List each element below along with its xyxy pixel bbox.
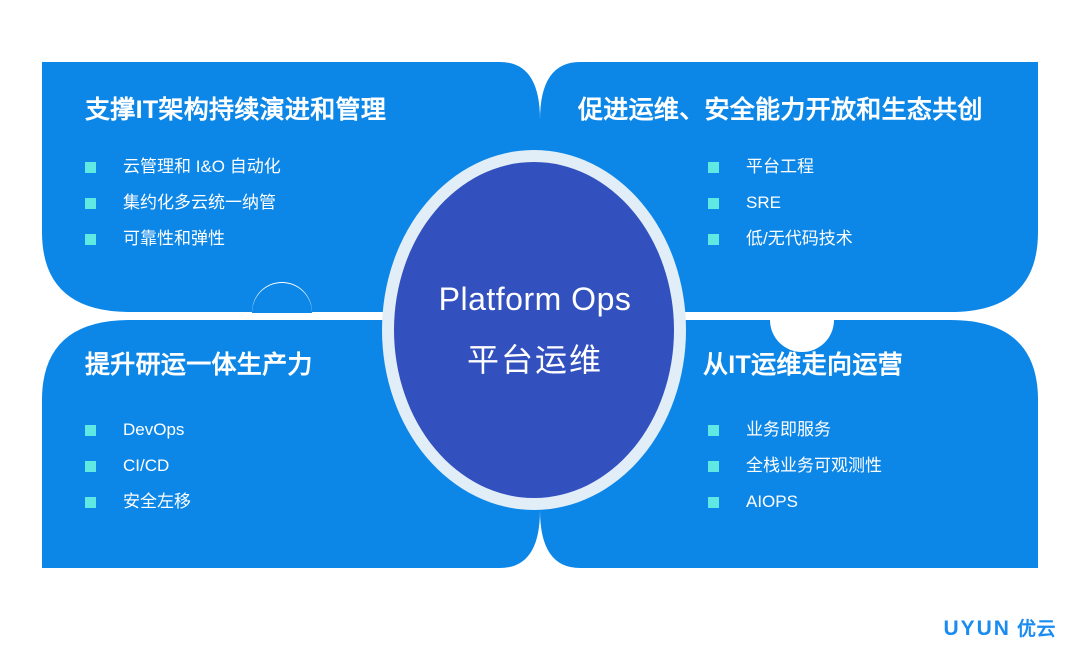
list-item: 全栈业务可观测性 xyxy=(708,455,903,477)
quadrant-top-left: 支撑IT架构持续演进和管理 云管理和 I&O 自动化 集约化多云统一纳管 可靠性… xyxy=(85,95,386,264)
bullet-square-icon xyxy=(85,234,96,245)
bullet-square-icon xyxy=(708,497,719,508)
brand-logo-cn: 优云 xyxy=(1017,614,1056,641)
list-item: CI/CD xyxy=(85,455,313,477)
bullet-square-icon xyxy=(85,198,96,209)
bullet-list-bottom-right: 业务即服务 全栈业务可观测性 AIOPS xyxy=(708,419,903,513)
bullet-label: 低/无代码技术 xyxy=(746,228,853,250)
quadrant-bottom-right: 从IT运维走向运营 业务即服务 全栈业务可观测性 AIOPS xyxy=(703,350,903,527)
bullet-square-icon xyxy=(708,234,719,245)
list-item: 云管理和 I&O 自动化 xyxy=(85,156,386,178)
bullet-label: 全栈业务可观测性 xyxy=(746,455,882,477)
bullet-square-icon xyxy=(85,425,96,436)
list-item: 可靠性和弹性 xyxy=(85,228,386,250)
bullet-label: CI/CD xyxy=(123,455,169,477)
bullet-label: SRE xyxy=(746,192,781,214)
diagram-canvas: Platform Ops 平台运维 支撑IT架构持续演进和管理 云管理和 I&O… xyxy=(0,0,1080,659)
quadrant-top-right: 促进运维、安全能力开放和生态共创 平台工程 SRE 低/无代码技术 xyxy=(578,95,983,264)
bullet-square-icon xyxy=(708,162,719,173)
bullet-label: 安全左移 xyxy=(123,491,191,513)
bullet-label: 可靠性和弹性 xyxy=(123,228,225,250)
quadrant-bottom-left: 提升研运一体生产力 DevOps CI/CD 安全左移 xyxy=(85,350,313,527)
list-item: 集约化多云统一纳管 xyxy=(85,192,386,214)
brand-logo: UYUN 优云 xyxy=(943,614,1056,641)
quadrant-title-bottom-right: 从IT运维走向运营 xyxy=(703,350,903,380)
list-item: SRE xyxy=(708,192,983,214)
brand-logo-latin: UYUN xyxy=(943,617,1011,641)
list-item: 安全左移 xyxy=(85,491,313,513)
bullet-label: 业务即服务 xyxy=(746,419,831,441)
bullet-square-icon xyxy=(708,425,719,436)
bullet-label: AIOPS xyxy=(746,491,798,513)
bullet-square-icon xyxy=(708,461,719,472)
bullet-label: 平台工程 xyxy=(746,156,814,178)
bullet-label: DevOps xyxy=(123,419,184,441)
bullet-square-icon xyxy=(85,461,96,472)
quadrant-title-bottom-left: 提升研运一体生产力 xyxy=(85,350,313,380)
list-item: AIOPS xyxy=(708,491,903,513)
quadrant-title-top-left: 支撑IT架构持续演进和管理 xyxy=(85,95,386,125)
bullet-square-icon xyxy=(85,497,96,508)
bullet-list-top-left: 云管理和 I&O 自动化 集约化多云统一纳管 可靠性和弹性 xyxy=(85,156,386,250)
bullet-label: 集约化多云统一纳管 xyxy=(123,192,276,214)
quadrant-title-top-right: 促进运维、安全能力开放和生态共创 xyxy=(578,95,983,125)
bullet-label: 云管理和 I&O 自动化 xyxy=(123,156,281,178)
list-item: 平台工程 xyxy=(708,156,983,178)
bullet-list-top-right: 平台工程 SRE 低/无代码技术 xyxy=(708,156,983,250)
list-item: 低/无代码技术 xyxy=(708,228,983,250)
bullet-square-icon xyxy=(708,198,719,209)
bullet-list-bottom-left: DevOps CI/CD 安全左移 xyxy=(85,419,313,513)
bullet-square-icon xyxy=(85,162,96,173)
list-item: DevOps xyxy=(85,419,313,441)
list-item: 业务即服务 xyxy=(708,419,903,441)
